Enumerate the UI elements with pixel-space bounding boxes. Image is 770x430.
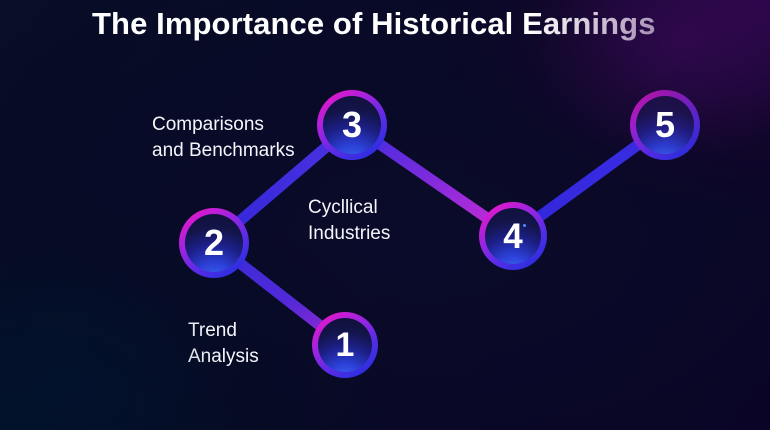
label-comparisons-and-benchmarks: Comparisons and Benchmarks <box>152 112 295 164</box>
node-4-speck-dot <box>523 224 526 227</box>
node-1[interactable]: 1 <box>312 312 378 378</box>
node-2[interactable]: 2 <box>179 208 249 278</box>
node-3-number: 3 <box>342 107 362 143</box>
label-trend-analysis: Trend Analysis <box>188 318 259 370</box>
node-5-number: 5 <box>655 107 675 143</box>
node-4-number: 4 <box>503 219 522 254</box>
slide-canvas: The Importance of Historical Earnings <box>0 0 770 430</box>
node-2-number: 2 <box>204 225 224 261</box>
label-cyclical-industries: Cycllical Industries <box>308 195 390 247</box>
node-4[interactable]: 4 <box>479 202 547 270</box>
node-3[interactable]: 3 <box>317 90 387 160</box>
node-5[interactable]: 5 <box>630 90 700 160</box>
node-1-number: 1 <box>336 328 355 362</box>
